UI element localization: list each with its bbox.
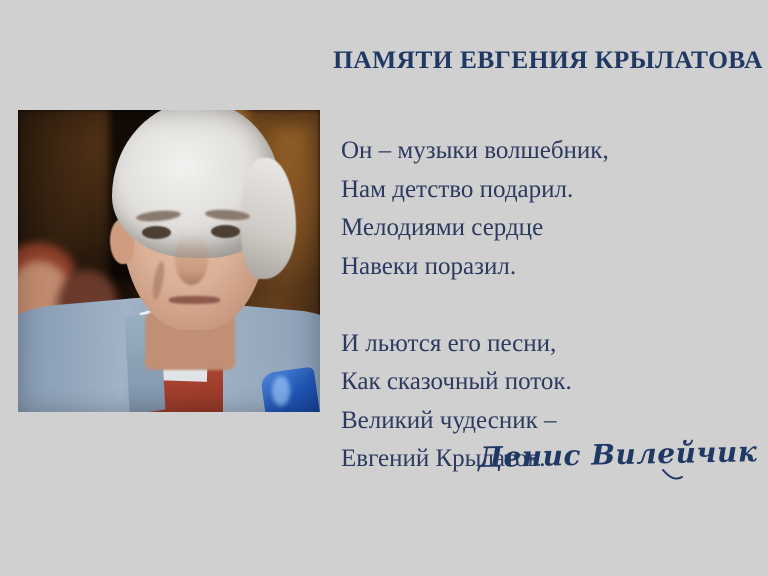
poem-line: И льются его песни, — [341, 325, 609, 364]
poem-line: Великий чудесник – — [341, 402, 609, 441]
poem-stanza: Он – музыки волшебник, Нам детство подар… — [341, 132, 609, 286]
poem-line: Навеки поразил. — [341, 248, 609, 287]
signature-flourish-icon — [662, 468, 684, 484]
poem-line: Нам детство подарил. — [341, 171, 609, 210]
portrait-photo — [18, 110, 320, 412]
author-signature: Денис Вилейчик — [478, 435, 758, 474]
photo-vignette — [18, 110, 320, 412]
poem-line: Как сказочный поток. — [341, 363, 609, 402]
poem: Он – музыки волшебник, Нам детство подар… — [341, 132, 609, 479]
page-title: ПАМЯТИ ЕВГЕНИЯ КРЫЛАТОВА — [330, 45, 766, 75]
slide: ПАМЯТИ ЕВГЕНИЯ КРЫЛАТОВА — [0, 0, 768, 576]
portrait-photo-inner — [18, 110, 320, 412]
poem-line: Мелодиями сердце — [341, 209, 609, 248]
poem-line: Он – музыки волшебник, — [341, 132, 609, 171]
